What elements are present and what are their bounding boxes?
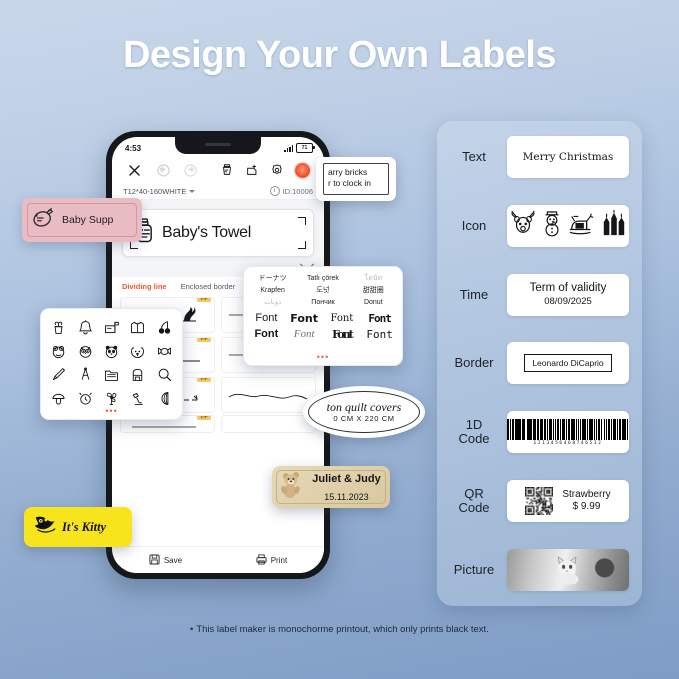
font-panel-more[interactable]: ••• bbox=[317, 353, 329, 362]
editor-canvas: Baby's Towel bbox=[112, 200, 324, 257]
label-type-selector[interactable]: T12*40-160WHITE bbox=[123, 187, 195, 196]
qr-code-image bbox=[525, 487, 553, 515]
vip-badge: VIP bbox=[197, 297, 211, 302]
language-grid: ドーナツ Tatlı çörek โดนัท Krapfen 도넛 甜甜圈 دو… bbox=[248, 273, 398, 308]
font-sample[interactable]: Font bbox=[286, 327, 323, 342]
lang-item[interactable]: 甜甜圈 bbox=[349, 285, 398, 296]
feature-row-time: Time Term of validity 08/09/2025 bbox=[450, 273, 629, 317]
paint-bucket-icon[interactable] bbox=[216, 159, 238, 181]
feature-card-time: Term of validity 08/09/2025 bbox=[507, 274, 629, 316]
kitten-icon bbox=[550, 554, 586, 589]
sleigh-icon bbox=[568, 209, 596, 242]
sticker-brick-line1: arry bricks bbox=[328, 167, 384, 178]
shirt-icon[interactable] bbox=[125, 316, 150, 339]
save-label: Save bbox=[164, 556, 182, 565]
feature-panel: Text Merry Christmas Icon bbox=[437, 121, 642, 606]
flower-pot-icon[interactable] bbox=[46, 316, 71, 339]
feature-card-1d-code: 1213456468746532 bbox=[507, 411, 629, 453]
feature-card-icon bbox=[507, 205, 629, 247]
feature-label-picture: Picture bbox=[450, 563, 498, 577]
sticker-quilt-line1: ton quilt covers bbox=[327, 401, 402, 414]
signal-icon bbox=[284, 145, 293, 152]
record-button[interactable] bbox=[291, 159, 313, 181]
alarm-clock-icon[interactable] bbox=[72, 387, 97, 410]
label-id-value: ID:10006 bbox=[283, 187, 313, 196]
lang-item[interactable]: Tatlı çörek bbox=[298, 273, 347, 284]
barcode-image bbox=[507, 419, 629, 440]
castle-icon bbox=[601, 209, 627, 242]
feature-card-picture bbox=[507, 549, 629, 591]
font-sample[interactable]: Font bbox=[248, 311, 285, 326]
teddy-bear-icon bbox=[280, 470, 306, 505]
feature-card-text: Merry Christmas bbox=[507, 136, 629, 178]
compass-icon[interactable] bbox=[72, 364, 97, 387]
feature-value-time-date: 08/09/2025 bbox=[530, 295, 607, 308]
feature-value-text: Merry Christmas bbox=[523, 151, 614, 163]
chevron-down-icon bbox=[189, 190, 195, 193]
info-icon: i bbox=[270, 186, 280, 196]
label-meta-row: T12*40-160WHITE i ID:10006 bbox=[112, 183, 324, 200]
stamp-icon[interactable] bbox=[241, 159, 263, 181]
vip-badge: VIP bbox=[197, 377, 211, 382]
feature-card-border: Leonardo DiCaprio bbox=[507, 342, 629, 384]
lang-item[interactable]: Donut bbox=[349, 297, 398, 308]
template-item[interactable] bbox=[221, 415, 316, 433]
vip-badge: VIP bbox=[197, 415, 211, 420]
font-sample[interactable]: Font bbox=[286, 311, 323, 326]
barcode-number: 1213456468746532 bbox=[534, 441, 603, 446]
folder-icon[interactable] bbox=[99, 364, 124, 387]
phone-notch bbox=[175, 137, 261, 154]
desk-lamp-icon[interactable] bbox=[125, 387, 150, 410]
feature-label-text: Text bbox=[450, 150, 498, 164]
font-sample[interactable]: Font bbox=[361, 327, 398, 342]
owl-icon[interactable] bbox=[72, 340, 97, 363]
cat-icon bbox=[32, 512, 58, 543]
font-sample[interactable]: Font bbox=[324, 311, 361, 326]
sticker-baby-text: Baby Supp bbox=[62, 214, 113, 226]
phone-bottom-bar: Save Print bbox=[112, 546, 324, 573]
gear-icon[interactable] bbox=[266, 159, 288, 181]
sticker-quilt-cover: ton quilt covers 0 CM X 220 CM bbox=[303, 386, 425, 438]
baby-bottle-icon bbox=[32, 207, 56, 234]
save-icon bbox=[149, 554, 160, 567]
template-item[interactable] bbox=[221, 377, 316, 413]
feature-value-time-title: Term of validity bbox=[530, 282, 607, 295]
feature-label-icon: Icon bbox=[450, 219, 498, 233]
footer-bullet: • bbox=[190, 624, 193, 634]
label-id: i ID:10006 bbox=[270, 186, 313, 196]
cherry-icon[interactable] bbox=[152, 316, 177, 339]
editor-toolbar bbox=[112, 157, 324, 183]
sticker-juliet-name: Juliet & Judy bbox=[312, 473, 380, 485]
tab-enclosed-border[interactable]: Enclosed border bbox=[181, 282, 236, 291]
candy-icon[interactable] bbox=[152, 340, 177, 363]
close-icon[interactable] bbox=[123, 159, 145, 181]
footer-note: •This label maker is monochorme printout… bbox=[0, 624, 679, 635]
feature-row-icon: Icon bbox=[450, 204, 629, 248]
sticker-juliet-judy: Juliet & Judy 15.11.2023 bbox=[272, 466, 390, 508]
sticker-kitty-text: It's Kitty bbox=[62, 520, 106, 535]
label-type-value: T12*40-160WHITE bbox=[123, 187, 186, 196]
feature-label-time: Time bbox=[450, 288, 498, 302]
label-preview-text: Baby's Towel bbox=[162, 224, 251, 242]
feature-label-qr-code: QRCode bbox=[450, 487, 498, 515]
pencil-icon[interactable] bbox=[46, 364, 71, 387]
vip-badge: VIP bbox=[197, 337, 211, 342]
footer-note-text: This label maker is monochorme printout,… bbox=[196, 624, 489, 635]
mailbox-icon[interactable] bbox=[99, 316, 124, 339]
feature-row-border: Border Leonardo DiCaprio bbox=[450, 341, 629, 385]
cat-photo bbox=[507, 549, 629, 591]
sticker-quilt-line2: 0 CM X 220 CM bbox=[333, 414, 394, 423]
battery-level: 71 bbox=[302, 146, 308, 151]
reindeer-icon bbox=[510, 209, 536, 242]
lang-item[interactable]: Krapfen bbox=[248, 285, 297, 296]
print-label: Print bbox=[271, 556, 287, 565]
feature-value-border: Leonardo DiCaprio bbox=[524, 354, 611, 372]
sticker-its-kitty: It's Kitty bbox=[24, 507, 132, 547]
magnifier-icon[interactable] bbox=[152, 364, 177, 387]
bell-icon[interactable] bbox=[72, 316, 97, 339]
qr-product-price: $ 9.99 bbox=[562, 501, 610, 513]
sticker-brick-line2: r to clock in bbox=[328, 178, 384, 189]
feature-label-border: Border bbox=[450, 356, 498, 370]
font-picker-panel[interactable]: ドーナツ Tatlı çörek โดนัท Krapfen 도넛 甜甜圈 دو… bbox=[243, 266, 403, 366]
panda-icon[interactable] bbox=[99, 340, 124, 363]
font-sample[interactable]: Font bbox=[324, 327, 361, 342]
font-sample[interactable]: Font bbox=[361, 311, 398, 326]
shell-icon[interactable] bbox=[152, 387, 177, 410]
tab-dividing-line[interactable]: Dividing line bbox=[122, 282, 167, 291]
backpack-icon[interactable] bbox=[125, 364, 150, 387]
qr-product-name: Strawberry bbox=[562, 489, 610, 501]
icon-panel-more[interactable]: ••• bbox=[105, 407, 117, 416]
icon-grid bbox=[46, 316, 177, 410]
mushroom-icon[interactable] bbox=[46, 387, 71, 410]
sticker-carry-bricks: arry bricks r to clock in bbox=[316, 157, 396, 201]
frog-icon[interactable] bbox=[46, 340, 71, 363]
feature-row-text: Text Merry Christmas bbox=[450, 135, 629, 179]
lang-item[interactable]: 도넛 bbox=[298, 285, 347, 296]
redo-icon[interactable] bbox=[179, 159, 201, 181]
printer-icon bbox=[256, 554, 267, 567]
feature-row-qr-code: QRCode Strawberry $ 9.99 bbox=[450, 479, 629, 523]
status-time: 4:53 bbox=[125, 144, 141, 153]
print-button[interactable]: Print bbox=[256, 554, 287, 567]
lang-item[interactable]: โดนัท bbox=[349, 273, 398, 284]
feature-row-1d-code: 1DCode 1213456468746532 bbox=[450, 410, 629, 454]
feature-row-picture: Picture bbox=[450, 548, 629, 592]
dog-icon[interactable] bbox=[125, 340, 150, 363]
font-sample-grid: Font Font Font Font Font Font Font Font bbox=[248, 311, 398, 342]
icon-picker-panel[interactable]: ••• bbox=[40, 308, 183, 420]
page-root: Design Your Own Labels 4:53 71 bbox=[0, 0, 679, 679]
snowman-icon bbox=[541, 209, 563, 242]
font-sample[interactable]: Font bbox=[248, 327, 285, 342]
battery-icon: 71 bbox=[296, 143, 313, 153]
feature-card-qr-code: Strawberry $ 9.99 bbox=[507, 480, 629, 522]
undo-icon[interactable] bbox=[152, 159, 174, 181]
sticker-juliet-date: 15.11.2023 bbox=[324, 492, 368, 502]
lang-item[interactable]: ドーナツ bbox=[248, 273, 297, 284]
lang-item[interactable]: دونات bbox=[248, 297, 297, 308]
feature-label-1d-code: 1DCode bbox=[450, 418, 498, 446]
save-button[interactable]: Save bbox=[149, 554, 182, 567]
sticker-baby-supplies: Baby Supp bbox=[22, 198, 142, 242]
page-title: Design Your Own Labels bbox=[0, 34, 679, 77]
label-preview-card[interactable]: Baby's Towel bbox=[122, 209, 314, 257]
lang-item[interactable]: Пончик bbox=[298, 297, 347, 308]
